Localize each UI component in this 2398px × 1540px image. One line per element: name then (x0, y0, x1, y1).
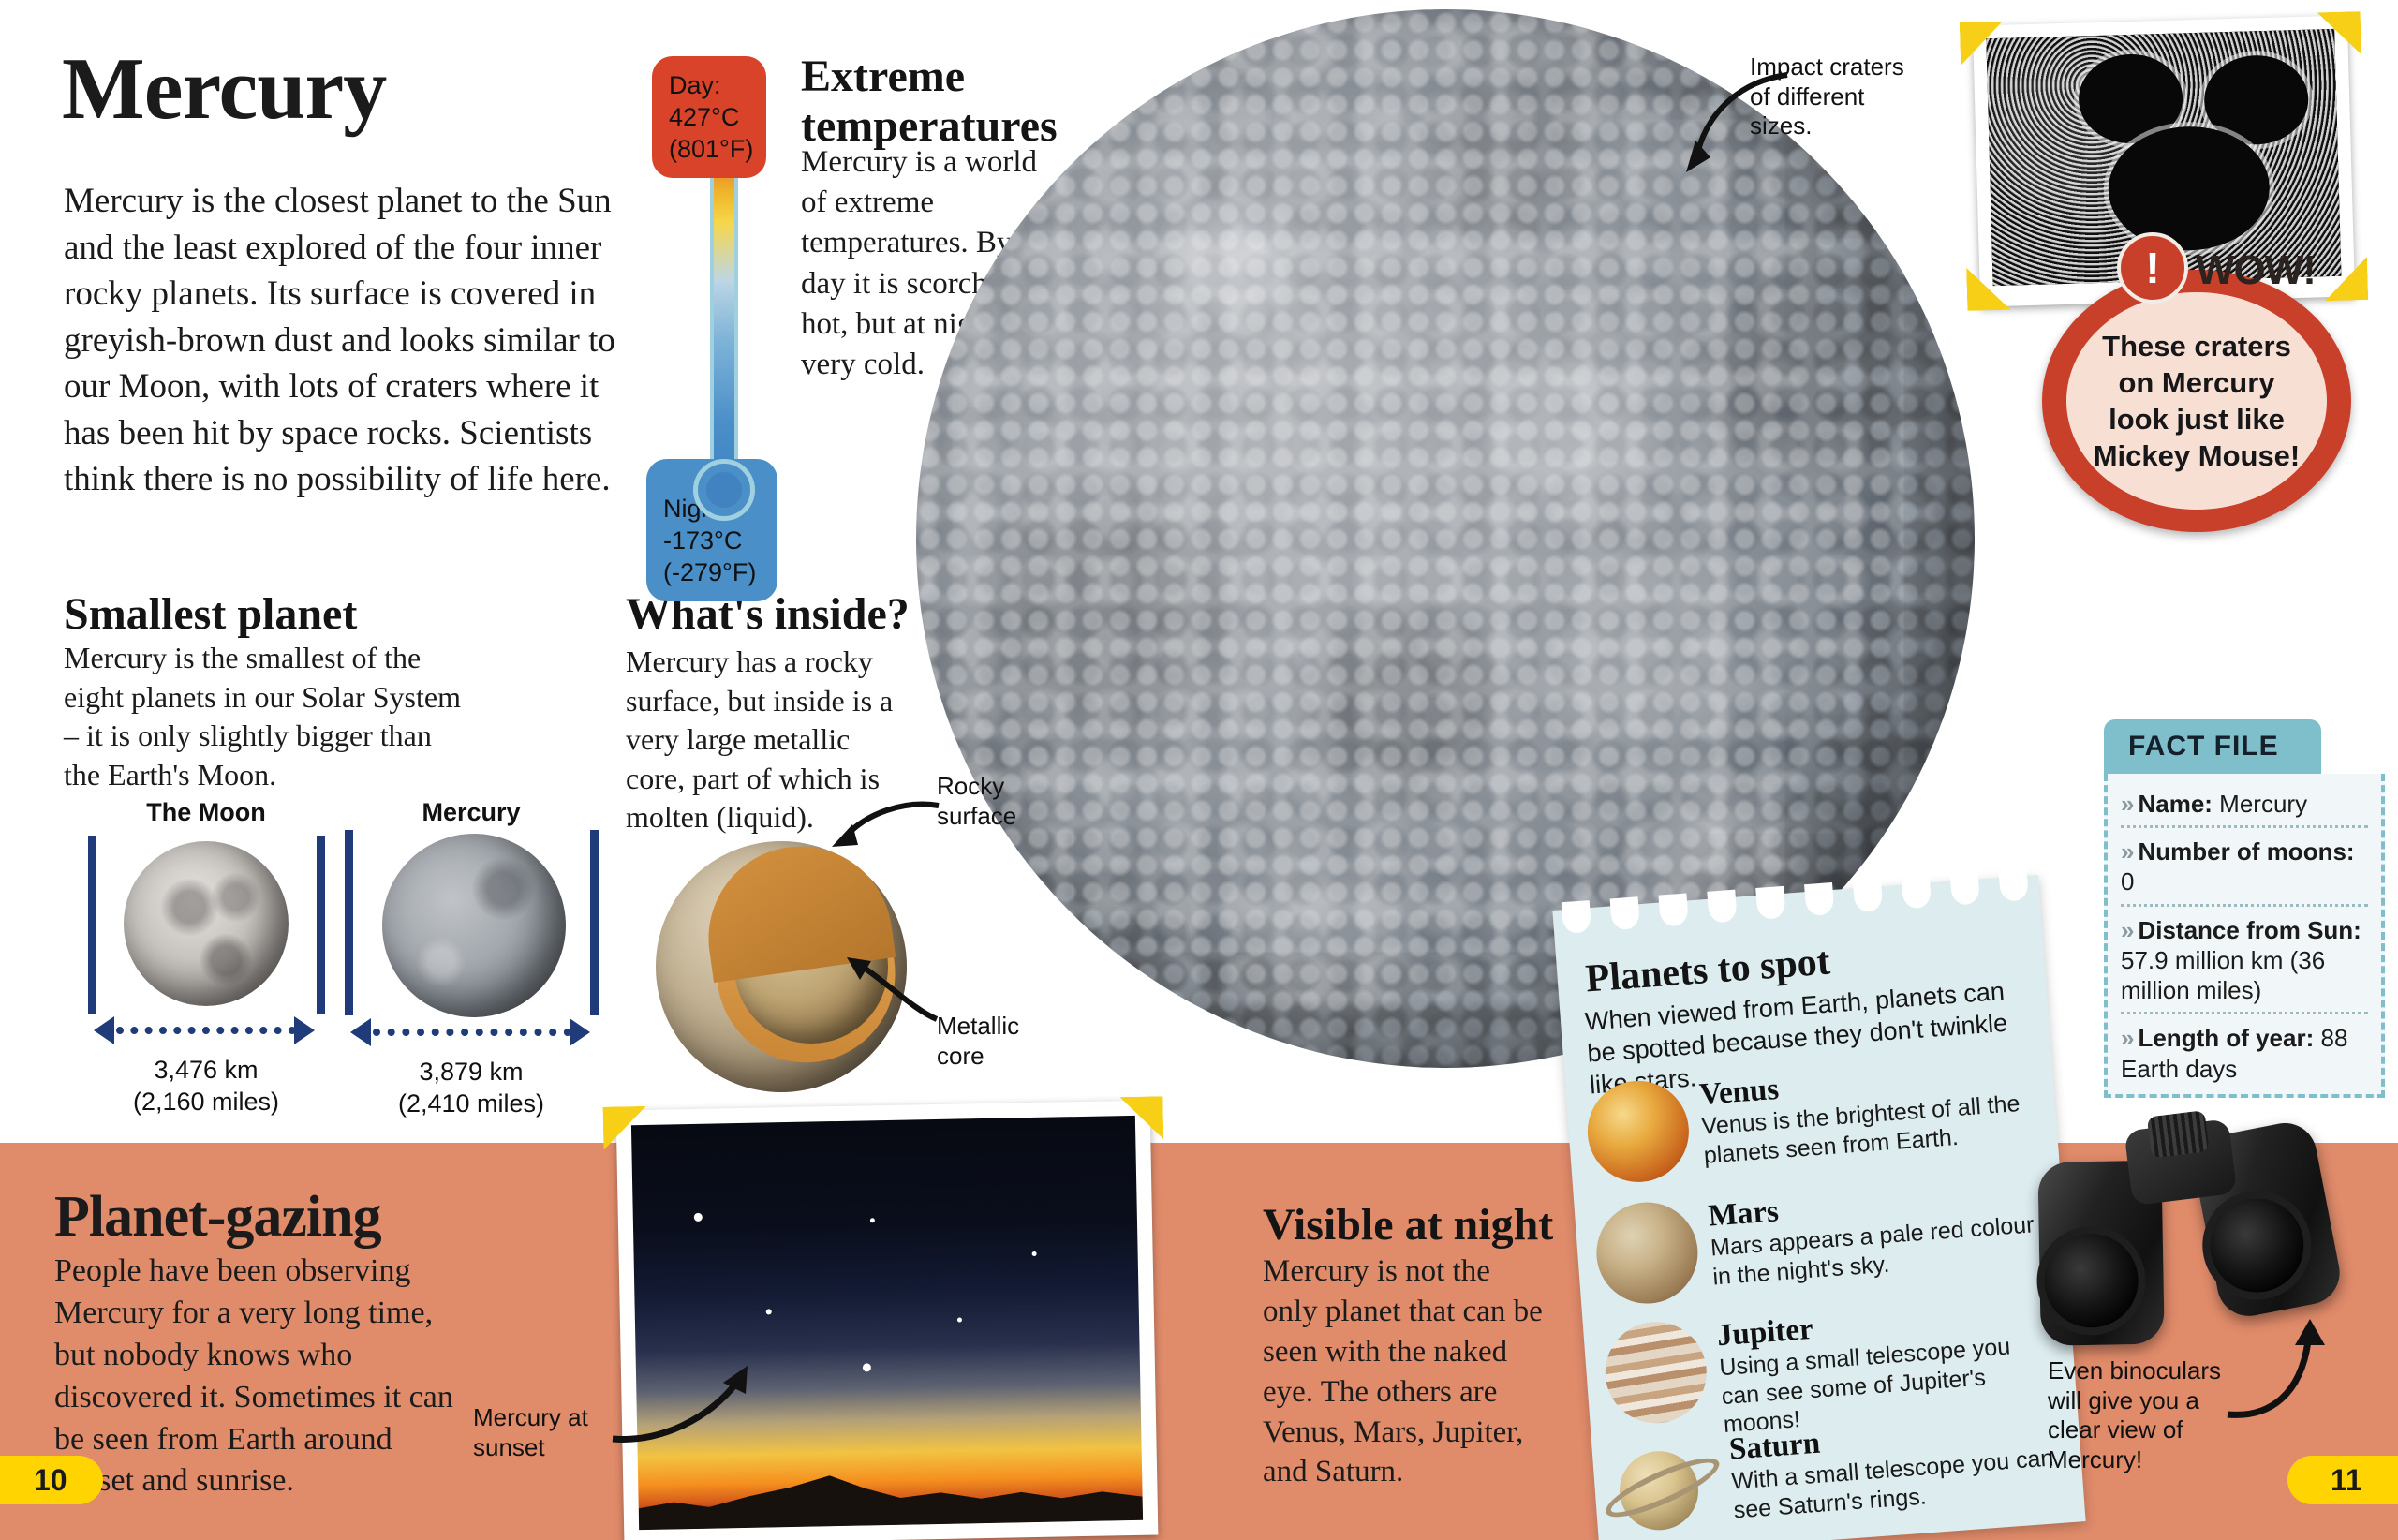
fact-file-row: »Length of year: 88 Earth days (2121, 1012, 2368, 1089)
page-number-right: 11 (2287, 1456, 2398, 1504)
day-label: Day: (669, 69, 749, 101)
exclamation-mark: ! (2145, 243, 2159, 293)
wow-text: These craters on Mercury look just like … (2082, 328, 2312, 474)
comparison-moon: The Moon 3,476 km (2,160 miles) (75, 798, 337, 827)
wow-line4: Mickey Mouse! (2094, 439, 2301, 472)
chevron-right-icon: » (2121, 837, 2134, 866)
measure-end-bar (88, 836, 96, 1014)
wow-word: WOW! (2196, 247, 2316, 294)
fact-file-body: »Name: Mercury »Number of moons: 0 »Dist… (2104, 774, 2385, 1098)
comparison-moon-size: 3,476 km (2,160 miles) (75, 1055, 337, 1118)
mercury-sphere-small (382, 834, 566, 1017)
mercury-km: 3,879 km (335, 1057, 607, 1088)
fact-key: Name: (2138, 790, 2212, 818)
metallic-core-label: Metallic core (937, 1012, 1049, 1071)
jupiter-planet-icon (1602, 1318, 1710, 1427)
intro-paragraph: Mercury is the closest planet to the Sun… (64, 178, 635, 503)
comparison-mercury-size: 3,879 km (2,410 miles) (335, 1057, 607, 1120)
measure-end-bar (345, 830, 353, 1015)
comparison-moon-label: The Moon (75, 798, 337, 827)
fact-key: Distance from Sun: (2138, 916, 2361, 944)
tear-hole-icon (1755, 886, 1785, 920)
binoculars-caption: Even binoculars will give you a clear vi… (2048, 1356, 2226, 1475)
moon-sphere (124, 841, 289, 1006)
tear-hole-icon (1658, 893, 1688, 926)
day-celsius: 427°C (669, 101, 749, 133)
smallest-planet-body: Mercury is the smallest of the eight pla… (64, 639, 466, 794)
fact-file-row: »Number of moons: 0 (2121, 825, 2368, 903)
wow-line1-a: These (2102, 330, 2194, 363)
moon-miles: (2,160 miles) (75, 1087, 337, 1118)
page-title: Mercury (62, 45, 386, 133)
day-fahrenheit: (801°F) (669, 133, 749, 165)
measure-dotted-line (116, 1027, 296, 1034)
visible-at-night-heading: Visible at night (1263, 1201, 1553, 1251)
chevron-right-icon: » (2121, 790, 2134, 818)
measure-end-bar (590, 830, 599, 1015)
mercury-point-of-light (863, 1364, 871, 1372)
measure-arrow-right-icon (570, 1018, 590, 1046)
thermometer-graphic: Night: -173°C (-279°F) Day: 427°C (801°F… (663, 56, 785, 525)
wow-line3: look just like (2109, 403, 2285, 436)
thermometer-day-box: Day: 427°C (801°F) (652, 56, 766, 178)
fact-key: Number of moons: (2138, 837, 2354, 866)
measure-end-bar (317, 836, 325, 1014)
night-celsius: -173°C (663, 525, 761, 556)
measure-arrow-right-icon (294, 1016, 315, 1044)
fact-value: 57.9 million km (36 million miles) (2121, 946, 2325, 1004)
chevron-right-icon: » (2121, 916, 2134, 944)
visible-at-night-body: Mercury is not the only planet that can … (1263, 1251, 1544, 1492)
mercury-at-sunset-label: Mercury at sunset (473, 1403, 604, 1462)
mars-planet-icon (1593, 1199, 1702, 1308)
binocular-focus-wheel (2147, 1110, 2210, 1158)
page-number-left: 10 (0, 1456, 103, 1504)
comparison-mercury: Mercury 3,879 km (2,410 miles) (335, 798, 607, 827)
chevron-right-icon: » (2121, 1024, 2134, 1052)
sunset-sky-image (631, 1116, 1143, 1530)
binoculars-arrow-icon (2222, 1304, 2344, 1426)
planets-to-spot-notepad: Planets to spot When viewed from Earth, … (1552, 875, 2085, 1540)
tear-hole-icon (1998, 868, 2028, 902)
impact-craters-arrow-icon (1677, 67, 1798, 180)
fact-file-tab-label: FACT FILE (2128, 731, 2279, 763)
comparison-mercury-label: Mercury (335, 798, 607, 827)
sunset-photo (616, 1101, 1159, 1540)
tear-hole-icon (1610, 896, 1640, 930)
wow-inner-panel: These craters on Mercury look just like … (2066, 292, 2327, 510)
wow-line2: on Mercury (2118, 366, 2274, 399)
planet-gazing-heading: Planet-gazing (54, 1188, 381, 1246)
measure-arrow-left-icon (94, 1016, 114, 1044)
fact-file-panel: FACT FILE »Name: Mercury »Number of moon… (2104, 719, 2385, 1098)
rocky-surface-label: Rocky surface (937, 772, 1049, 831)
exclamation-icon: ! (2117, 232, 2188, 304)
book-spread: Mercury Mercury is the closest planet to… (0, 0, 2398, 1540)
tear-hole-icon (1853, 879, 1883, 912)
star-dot (957, 1317, 962, 1322)
night-fahrenheit: (-279°F) (663, 556, 761, 588)
star-dot (870, 1218, 875, 1222)
wow-line1-b: craters (2194, 330, 2290, 363)
planet-gazing-body: People have been observing Mercury for a… (54, 1251, 466, 1503)
rocky-surface-arrow-icon (807, 792, 948, 867)
mercury-at-sunset-arrow-icon (607, 1330, 794, 1452)
fact-value: 0 (2121, 867, 2134, 896)
fact-file-tab: FACT FILE (2104, 719, 2321, 774)
venus-planet-icon (1584, 1077, 1693, 1186)
measure-arrow-left-icon (350, 1018, 371, 1046)
thermometer-bulb-fill (706, 472, 742, 508)
saturn-planet-icon (1603, 1432, 1723, 1540)
fact-value: Mercury (2213, 790, 2307, 818)
horizon-mountain-silhouette (638, 1464, 1143, 1530)
smallest-planet-heading: Smallest planet (64, 590, 357, 640)
measure-dotted-line (373, 1029, 571, 1036)
tear-hole-icon (1562, 900, 1591, 934)
fact-file-row: »Name: Mercury (2121, 789, 2368, 825)
tear-hole-icon (1950, 872, 1980, 906)
star-dot (693, 1213, 702, 1222)
tear-hole-icon (1707, 890, 1737, 924)
tear-hole-icon (1804, 882, 1834, 916)
star-dot (766, 1309, 772, 1314)
fact-key: Length of year: (2138, 1024, 2314, 1052)
metallic-core-arrow-icon (813, 937, 944, 1030)
fact-file-row: »Distance from Sun: 57.9 million km (36 … (2121, 904, 2368, 1013)
mercury-miles: (2,410 miles) (335, 1088, 607, 1120)
tear-hole-icon (1902, 875, 1932, 909)
wow-fact-badge: These craters on Mercury look just like … (2042, 251, 2351, 532)
star-dot (1032, 1251, 1037, 1255)
moon-km: 3,476 km (75, 1055, 337, 1087)
